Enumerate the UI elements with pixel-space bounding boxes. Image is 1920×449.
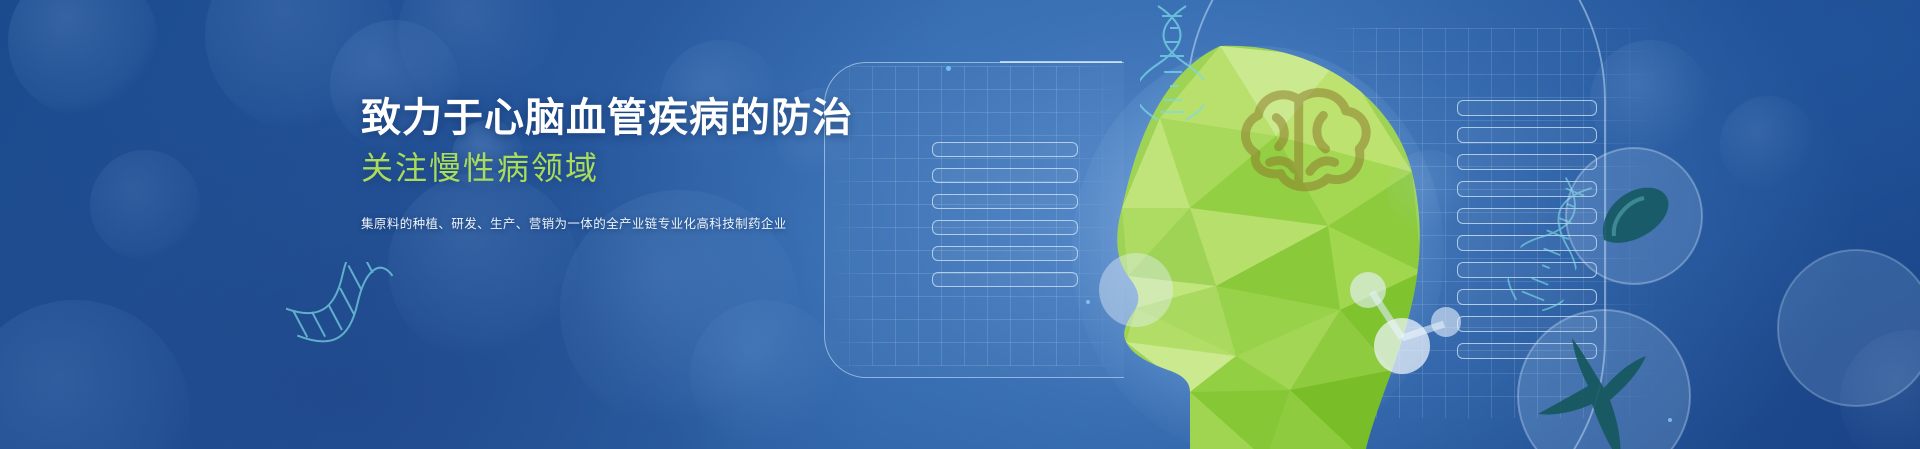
dna-helix-icon xyxy=(286,262,404,354)
hud-bar xyxy=(932,272,1078,287)
bokeh-circle xyxy=(90,150,200,260)
hud-bar xyxy=(1457,262,1597,278)
sparkle-dot xyxy=(1086,300,1090,304)
head-illustration xyxy=(1040,40,1460,449)
bacteria-cell-shapes xyxy=(1512,300,1702,449)
brain-icon xyxy=(1245,93,1366,187)
hud-bar xyxy=(1457,100,1597,116)
bokeh-circle xyxy=(1388,150,1472,234)
banner-subheadline: 关注慢性病领域 xyxy=(361,149,881,187)
bokeh-circle xyxy=(690,300,840,449)
hud-bar xyxy=(932,194,1078,209)
bokeh-circle xyxy=(1840,330,1920,449)
hud-grid-right xyxy=(1330,28,1660,418)
banner-headline: 致力于心脑血管疾病的防治 xyxy=(361,96,881,141)
hud-bar xyxy=(1457,289,1597,305)
ear-highlight xyxy=(1099,253,1173,327)
hud-bar xyxy=(1457,154,1597,170)
hud-bars-right xyxy=(1457,100,1597,359)
dna-helix-icon xyxy=(1501,170,1608,319)
bokeh-circle xyxy=(1720,96,1816,192)
bokeh-circle xyxy=(8,0,158,116)
banner-tagline: 集原料的种植、研发、生产、营销为一体的全产业链专业化高科技制药企业 xyxy=(361,213,881,232)
molecule-icon xyxy=(1340,270,1470,400)
sparkle-dot xyxy=(946,66,951,71)
hud-bar xyxy=(1457,208,1597,224)
hud-bar xyxy=(1457,235,1597,251)
hud-bar xyxy=(932,246,1078,261)
hud-bar xyxy=(1457,181,1597,197)
bokeh-circle xyxy=(1590,40,1710,160)
sparkle-dot xyxy=(1668,418,1672,422)
banner-text-block: 致力于心脑血管疾病的防治 关注慢性病领域 集原料的种植、研发、生产、营销为一体的… xyxy=(361,96,881,232)
hud-frame-right xyxy=(1186,0,1606,449)
bacteria-cell-shapes xyxy=(1760,242,1920,412)
dna-helix-icon xyxy=(1140,4,1204,122)
hud-bar xyxy=(932,168,1078,183)
hud-bar xyxy=(932,142,1078,157)
hero-banner: 致力于心脑血管疾病的防治 关注慢性病领域 集原料的种植、研发、生产、营销为一体的… xyxy=(0,0,1920,449)
hud-bar xyxy=(932,220,1078,235)
hud-bar xyxy=(1457,316,1597,332)
hud-bars-left xyxy=(932,142,1078,287)
hud-bar xyxy=(1457,343,1597,359)
bokeh-circle xyxy=(0,300,190,449)
bacteria-cell-shapes xyxy=(1562,144,1712,294)
hud-bar xyxy=(1457,127,1597,143)
hud-frame-top-rail xyxy=(1000,61,1122,63)
banner-artwork xyxy=(0,0,1920,449)
